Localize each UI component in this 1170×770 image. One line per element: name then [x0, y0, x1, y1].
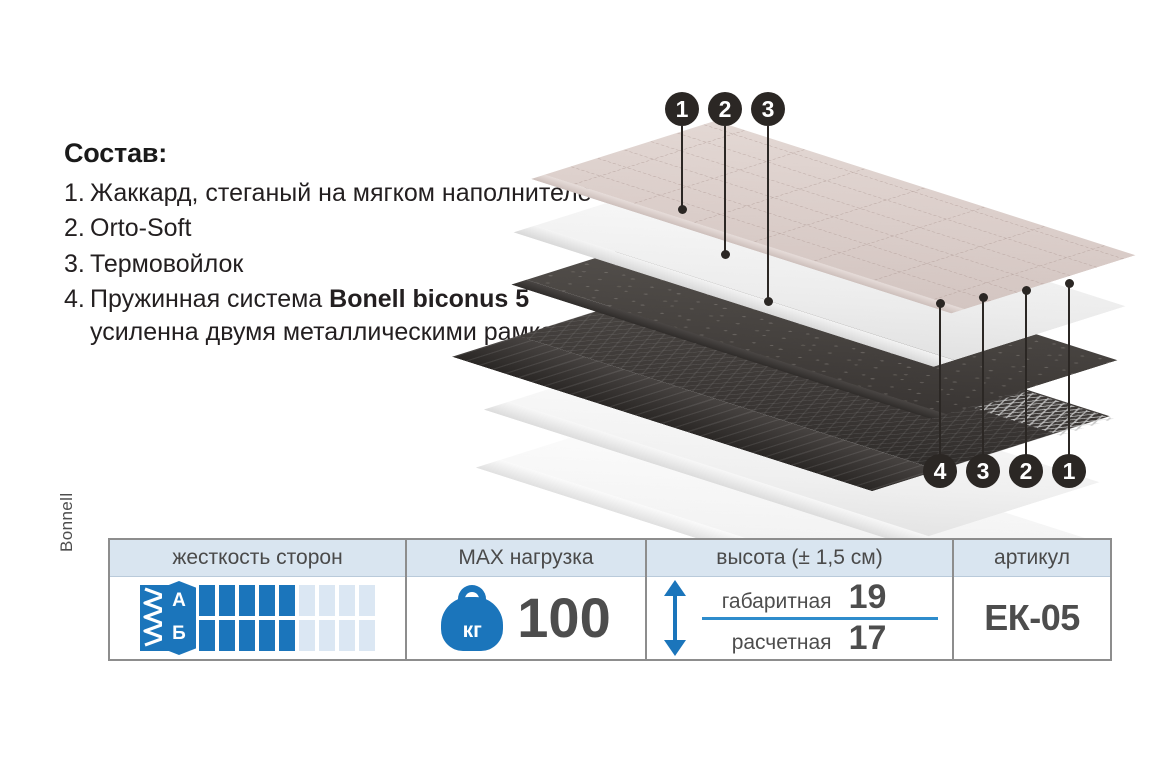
- scale-block: [259, 620, 275, 651]
- scale-block: [279, 585, 295, 616]
- callout-badge: 4: [923, 454, 957, 488]
- composition-title: Состав:: [64, 138, 639, 169]
- column-header: MAX нагрузка: [407, 540, 645, 577]
- composition-list: 1. Жаккард, стеганый на мягком наполните…: [64, 177, 639, 349]
- callout-line: [767, 126, 769, 301]
- spec-table: жесткость сторон А Б: [108, 538, 1112, 661]
- spring-coil-icon: А Б: [140, 581, 196, 655]
- height-row-calculated: расчетная 17: [702, 620, 938, 658]
- scale-block: [259, 585, 275, 616]
- height-widget: габаритная 19 расчетная 17: [662, 579, 938, 657]
- item-number: 4.: [64, 283, 90, 316]
- spec-column-article: артикул ЕК-05: [954, 540, 1110, 659]
- callout-top-3: 3: [751, 92, 785, 126]
- column-header: жесткость сторон: [110, 540, 405, 577]
- load-value: 100: [517, 590, 610, 646]
- callout-badge: 1: [1052, 454, 1086, 488]
- stiffness-widget: А Б: [140, 581, 375, 655]
- column-body: А Б: [110, 577, 405, 659]
- callout-badge: 3: [751, 92, 785, 126]
- callout-top-2: 2: [708, 92, 742, 126]
- item-number: 2.: [64, 212, 90, 245]
- callout-badge: 1: [665, 92, 699, 126]
- stiffness-row-a: [199, 585, 375, 616]
- scale-block: [239, 620, 255, 651]
- scale-block: [299, 620, 315, 651]
- item-number: 3.: [64, 248, 90, 281]
- scale-block: [319, 620, 335, 651]
- vertical-double-arrow-icon: [662, 580, 688, 656]
- scale-block: [339, 620, 355, 651]
- spec-column-stiffness: жесткость сторон А Б: [110, 540, 407, 659]
- callout-badge: 3: [966, 454, 1000, 488]
- callout-line: [724, 126, 726, 254]
- scale-block: [299, 585, 315, 616]
- item-text-part1: Пружинная система: [90, 285, 329, 313]
- side-b-label: Б: [164, 617, 194, 650]
- column-header: артикул: [954, 540, 1110, 577]
- callout-line: [681, 126, 683, 209]
- scale-block: [199, 620, 215, 651]
- callout-dot: [721, 250, 730, 259]
- kettlebell-icon: кг: [441, 585, 503, 651]
- scale-block: [339, 585, 355, 616]
- item-number: 1.: [64, 177, 90, 210]
- scale-block: [319, 585, 335, 616]
- callout-line: [982, 299, 984, 457]
- side-a-label: А: [164, 584, 194, 617]
- stiffness-scale: [199, 585, 375, 651]
- column-body: габаритная 19 расчетная 17: [647, 577, 952, 659]
- spec-column-height: высота (± 1,5 см) габаритная 19: [647, 540, 954, 659]
- callout-dot: [764, 297, 773, 306]
- brand-label: Bonnell: [57, 492, 77, 552]
- mattress-layers-diagram: 1 2 3 4 3 2: [620, 80, 1140, 500]
- height-value: 19: [844, 580, 892, 616]
- load-widget: кг 100: [441, 585, 610, 651]
- spring-system-name: Bonell biconus 5: [329, 285, 529, 313]
- stiffness-row-b: [199, 620, 375, 651]
- callout-line: [1025, 292, 1027, 457]
- arrow-stem: [673, 594, 677, 642]
- height-label: габаритная: [702, 590, 832, 614]
- scale-block: [359, 585, 375, 616]
- scale-block: [199, 585, 215, 616]
- load-unit-label: кг: [441, 619, 503, 643]
- callout-line: [939, 305, 941, 457]
- scale-block: [239, 585, 255, 616]
- height-label: расчетная: [702, 631, 832, 655]
- infographic-page: Состав: 1. Жаккард, стеганый на мягком н…: [0, 0, 1170, 770]
- callout-top-1: 1: [665, 92, 699, 126]
- scale-block: [219, 585, 235, 616]
- arrow-down-head: [664, 640, 686, 656]
- side-labels: А Б: [164, 584, 194, 650]
- height-value: 17: [844, 621, 892, 657]
- scale-block: [219, 620, 235, 651]
- column-header: высота (± 1,5 см): [647, 540, 952, 577]
- scale-block: [279, 620, 295, 651]
- spec-column-load: MAX нагрузка кг 100: [407, 540, 647, 659]
- callout-line: [1068, 285, 1070, 457]
- height-row-overall: габаритная 19: [702, 579, 938, 617]
- column-body: ЕК-05: [954, 577, 1110, 659]
- callout-badge: 2: [1009, 454, 1043, 488]
- column-body: кг 100: [407, 577, 645, 659]
- callout-badge: 2: [708, 92, 742, 126]
- callout-dot: [678, 205, 687, 214]
- height-rows: габаритная 19 расчетная 17: [702, 579, 938, 657]
- scale-block: [359, 620, 375, 651]
- article-value: ЕК-05: [984, 597, 1080, 639]
